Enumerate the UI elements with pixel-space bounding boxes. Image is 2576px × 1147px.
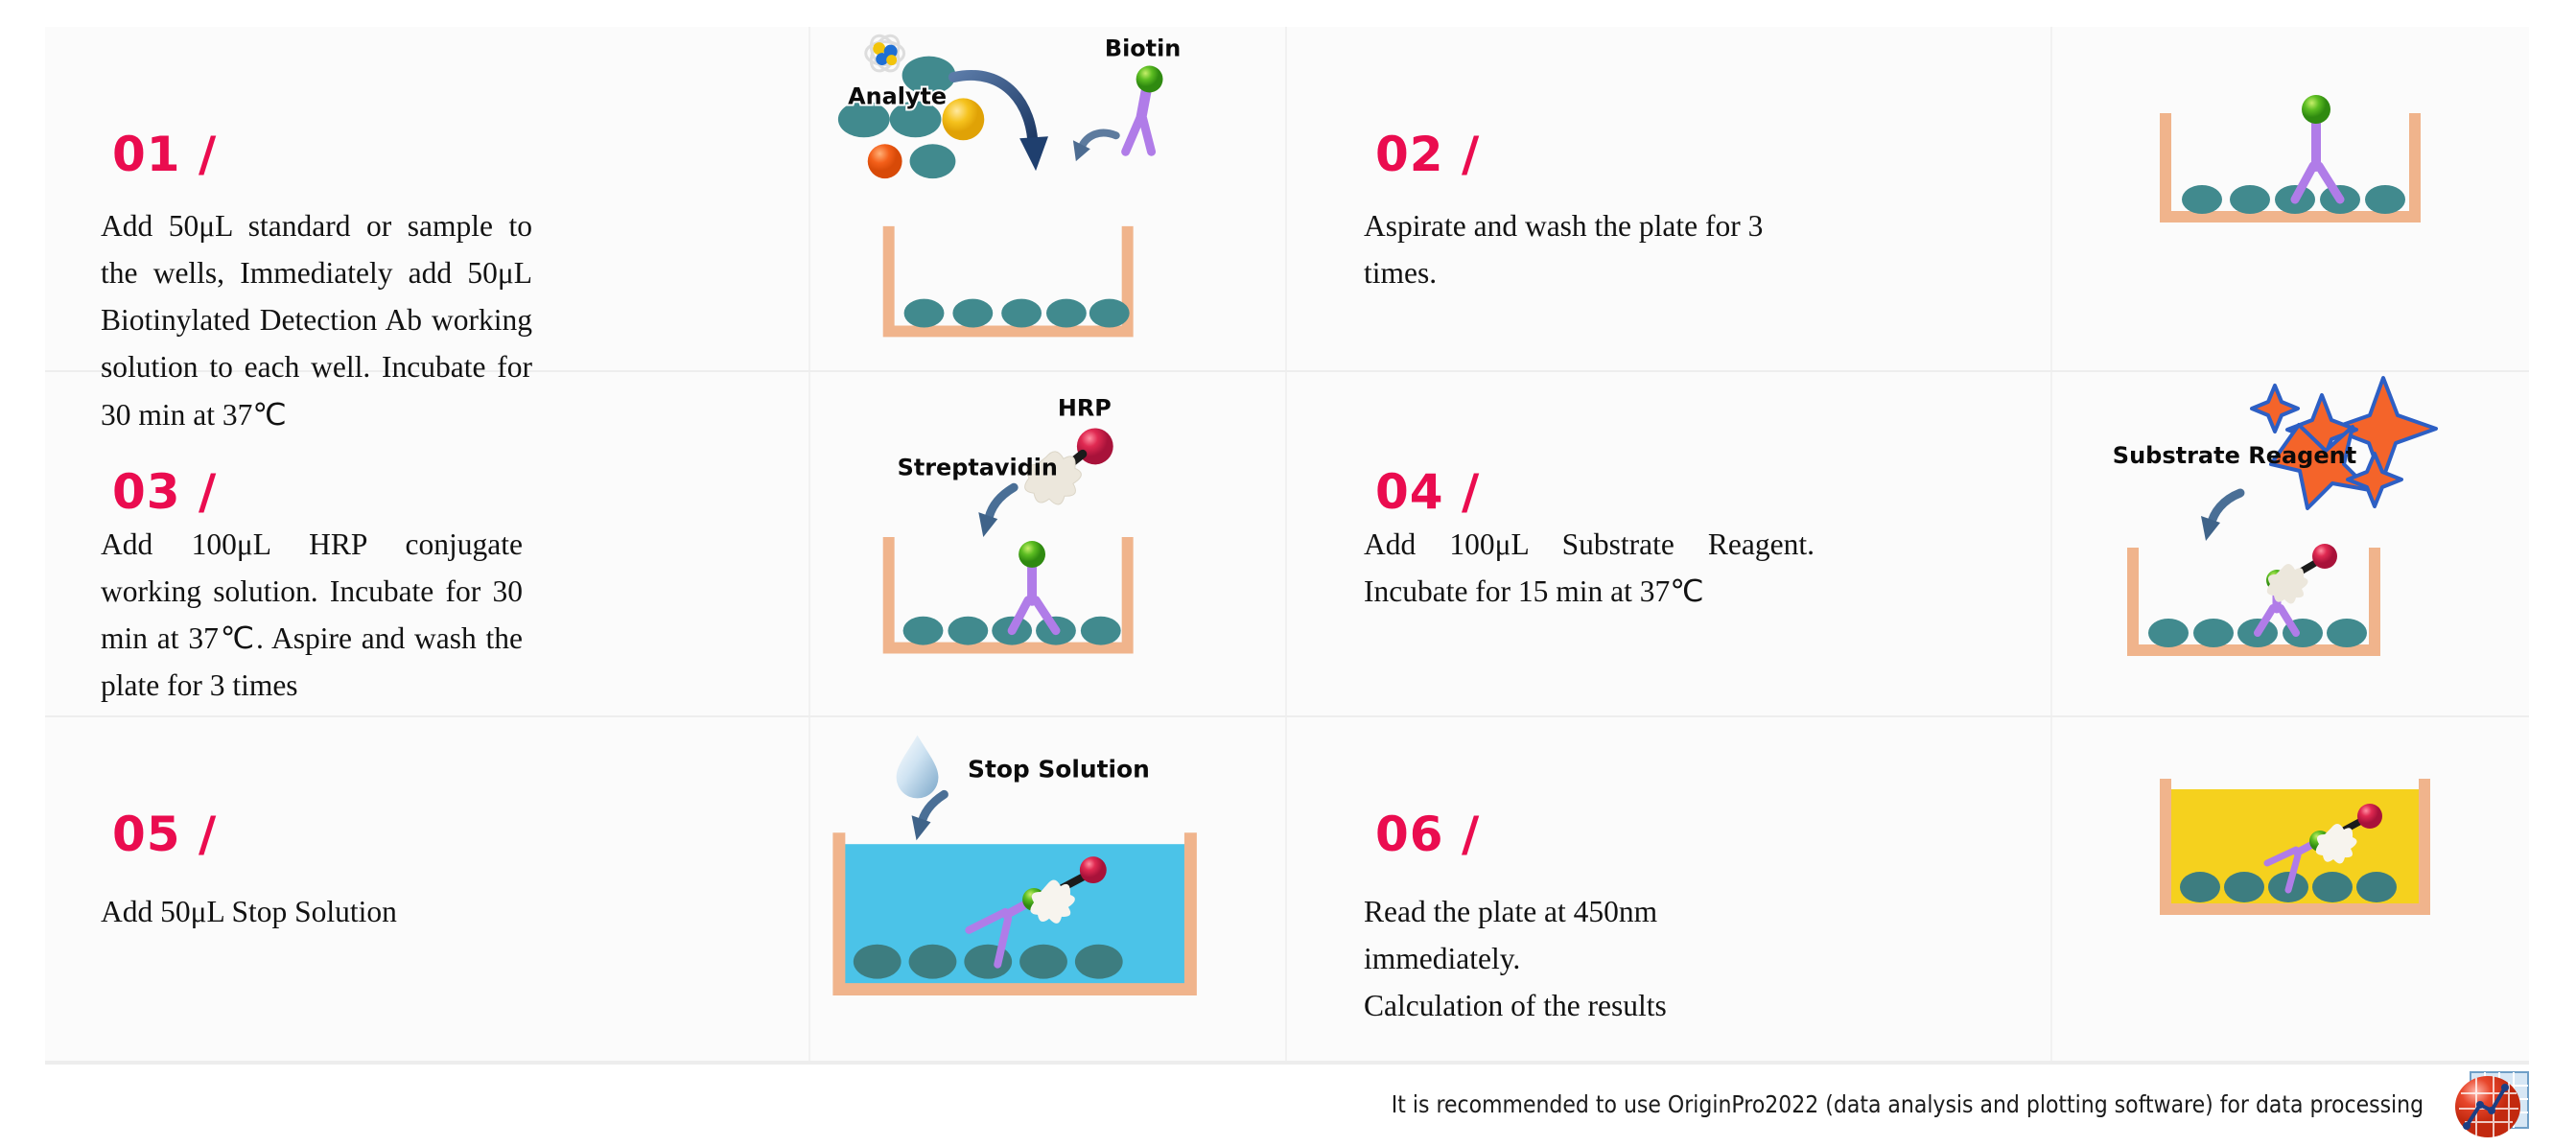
- step-cell-02: 02 / Aspirate and wash the plate for 3 t…: [1287, 27, 2052, 370]
- step-illustration-03: HRP Streptavidin: [810, 372, 1287, 715]
- footer-note-text: It is recommended to use OriginPro2022 (…: [1392, 1090, 2424, 1118]
- step-cell-03: 03 / Add 100μL HRP conjugate working sol…: [45, 372, 810, 715]
- label-stop-solution: Stop Solution: [968, 755, 1150, 783]
- microplate-well-06: [2166, 779, 2424, 909]
- step-illustration-05: Stop Solution: [810, 717, 1287, 1061]
- step-number-05: 05 /: [112, 810, 217, 858]
- microplate-well-03: [889, 537, 1128, 648]
- step-illustration-06: [2052, 717, 2529, 1061]
- step-cell-06: 06 / Read the plate at 450nm immediately…: [1287, 717, 2052, 1061]
- label-hrp: HRP: [1058, 395, 1112, 422]
- molecule-icon: [865, 31, 904, 75]
- step-number-02: 02 /: [1375, 130, 1480, 178]
- label-biotin: Biotin: [1105, 35, 1181, 62]
- microplate-well-01: [889, 226, 1130, 332]
- illustration-svg-04: Substrate Reagent: [2052, 372, 2529, 715]
- illustration-svg-03: HRP Streptavidin: [810, 372, 1285, 715]
- step-text-02: Aspirate and wash the plate for 3 times.: [1364, 202, 1815, 296]
- step-number-03: 03 /: [112, 468, 217, 516]
- arrow-down-blue-03: [978, 487, 1014, 537]
- step-number-01: 01 /: [112, 130, 217, 178]
- footer-bar: It is recommended to use OriginPro2022 (…: [45, 1063, 2529, 1112]
- analyte-sphere-orange: [868, 144, 902, 178]
- step-text-04: Add 100μL Substrate Reagent. Incubate fo…: [1364, 521, 1815, 615]
- arrow-small-blue: [1073, 133, 1116, 162]
- water-drop-icon: [897, 736, 939, 799]
- label-streptavidin: Streptavidin: [898, 454, 1058, 480]
- arrow-down-blue-05: [912, 794, 945, 840]
- biotin-antibody: [1126, 66, 1163, 152]
- bound-antibody-02: [2295, 95, 2340, 199]
- illustration-svg-02: [2052, 27, 2529, 370]
- illustration-svg-05: Stop Solution: [810, 717, 1285, 1061]
- label-substrate-reagent: Substrate Reagent: [2113, 442, 2356, 469]
- bound-antibody-03: [1012, 541, 1056, 631]
- step-cell-04: 04 / Add 100μL Substrate Reagent. Incuba…: [1287, 372, 2052, 715]
- analyte-sphere-yellow: [942, 98, 984, 140]
- illustration-svg-06: [2052, 717, 2529, 1061]
- protocol-board: 01 / Add 50μL standard or sample to the …: [45, 27, 2529, 1112]
- microplate-well-05: [839, 832, 1191, 989]
- step-number-06: 06 /: [1375, 810, 1480, 858]
- step-cell-05: 05 / Add 50μL Stop Solution: [45, 717, 810, 1061]
- hrp-sphere-04: [2312, 544, 2337, 569]
- originpro-logo: [2451, 1066, 2534, 1147]
- label-analyte: Analyte: [848, 82, 947, 109]
- hrp-sphere-06: [2357, 804, 2382, 829]
- protocol-row-1: 01 / Add 50μL standard or sample to the …: [45, 27, 2529, 372]
- biotin-sphere: [1136, 66, 1163, 93]
- step-text-06: Read the plate at 450nm immediately. Cal…: [1364, 888, 1815, 1029]
- biotin-sphere-02: [2302, 95, 2330, 124]
- step-text-05: Add 50μL Stop Solution: [101, 888, 532, 935]
- arrow-down-blue-04: [2201, 493, 2240, 541]
- biotin-sphere-03: [1019, 541, 1045, 568]
- step-illustration-04: Substrate Reagent: [2052, 372, 2529, 715]
- step-illustration-02: [2052, 27, 2529, 370]
- microplate-well-02: [2166, 95, 2415, 217]
- hrp-sphere-05: [1080, 856, 1107, 883]
- step-cell-01: 01 / Add 50μL standard or sample to the …: [45, 27, 810, 370]
- step-number-04: 04 /: [1375, 468, 1480, 516]
- illustration-svg-01: Analyte Biotin: [810, 27, 1285, 370]
- step-text-03: Add 100μL HRP conjugate working solution…: [101, 521, 523, 710]
- protocol-row-3: 05 / Add 50μL Stop Solution Stop S: [45, 717, 2529, 1063]
- protocol-row-2: 03 / Add 100μL HRP conjugate working sol…: [45, 372, 2529, 717]
- step-illustration-01: Analyte Biotin: [810, 27, 1287, 370]
- microplate-well-04: [2133, 544, 2375, 650]
